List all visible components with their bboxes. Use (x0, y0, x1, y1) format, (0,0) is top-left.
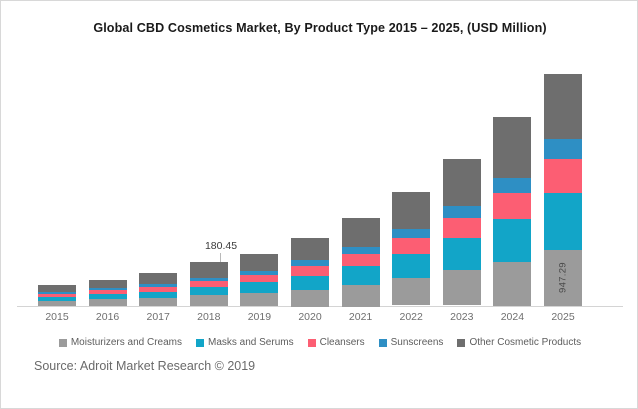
legend-swatch-icon (379, 339, 387, 347)
bar-segment[interactable] (544, 159, 582, 193)
legend-swatch-icon (457, 339, 465, 347)
legend-swatch-icon (59, 339, 67, 347)
legend-label: Moisturizers and Creams (71, 337, 182, 348)
legend-item[interactable]: Masks and Serums (196, 337, 294, 348)
bar-segment[interactable] (342, 254, 380, 266)
legend-swatch-icon (196, 339, 204, 347)
x-axis-label: 2025 (533, 311, 593, 323)
bar-stack[interactable] (190, 262, 228, 306)
legend-item[interactable]: Sunscreens (379, 337, 444, 348)
legend-label: Other Cosmetic Products (469, 337, 581, 348)
bar-segment[interactable] (544, 139, 582, 159)
bar-stack[interactable] (291, 238, 329, 306)
bar-stack[interactable] (89, 280, 127, 306)
bar-segment[interactable] (493, 262, 531, 306)
bar-segment[interactable] (443, 238, 481, 270)
legend-label: Cleansers (320, 337, 365, 348)
bar-segment[interactable] (544, 74, 582, 139)
bar-stack[interactable] (240, 254, 278, 306)
bar-segment[interactable] (342, 247, 380, 254)
bar-segment[interactable] (493, 117, 531, 178)
bar-segment[interactable] (139, 298, 177, 306)
bar-segment[interactable] (240, 282, 278, 293)
bar-segment[interactable] (342, 285, 380, 307)
bar-segment[interactable] (38, 301, 76, 306)
chart-container: Global CBD Cosmetics Market, By Product … (0, 0, 638, 409)
bar-segment[interactable]: 947.29 (544, 250, 582, 306)
bar-stack[interactable]: 947.29 (544, 74, 582, 306)
bar-segment[interactable] (443, 270, 481, 305)
bar-segment[interactable] (392, 229, 430, 238)
bar-segment[interactable] (493, 193, 531, 219)
bar-segment[interactable] (291, 266, 329, 276)
bar-segment[interactable] (89, 299, 127, 306)
bar-segment[interactable] (493, 178, 531, 193)
bar-segment[interactable] (291, 290, 329, 307)
chart-legend: Moisturizers and CreamsMasks and SerumsC… (1, 337, 638, 348)
bar-segment[interactable] (38, 285, 76, 292)
bar-stack[interactable] (392, 192, 430, 306)
bar-segment[interactable] (89, 280, 127, 288)
bar-segment[interactable] (443, 218, 481, 238)
legend-item[interactable]: Other Cosmetic Products (457, 337, 581, 348)
bar-segment[interactable] (190, 295, 228, 306)
legend-label: Sunscreens (391, 337, 444, 348)
source-note: Source: Adroit Market Research © 2019 (34, 359, 255, 373)
bar-segment[interactable] (240, 275, 278, 282)
bar-segment[interactable] (392, 192, 430, 229)
data-label-2018: 180.45 (185, 240, 257, 252)
bar-stack[interactable] (38, 285, 76, 306)
bar-segment[interactable] (240, 254, 278, 271)
bar-segment[interactable] (240, 293, 278, 306)
chart-title: Global CBD Cosmetics Market, By Product … (1, 21, 638, 35)
bar-segment[interactable] (443, 159, 481, 206)
bar-segment[interactable] (342, 218, 380, 247)
bar-stack[interactable] (342, 218, 380, 306)
bar-segment[interactable] (291, 276, 329, 290)
bar-segment[interactable] (392, 278, 430, 305)
bar-segment[interactable] (493, 219, 531, 262)
bar-segment[interactable] (342, 266, 380, 285)
bar-segment[interactable] (291, 238, 329, 260)
data-label-2025: 947.29 (544, 250, 582, 306)
legend-item[interactable]: Cleansers (308, 337, 365, 348)
legend-swatch-icon (308, 339, 316, 347)
bar-segment[interactable] (139, 273, 177, 284)
bar-stack[interactable] (493, 117, 531, 306)
bar-stack[interactable] (443, 159, 481, 306)
bar-segment[interactable] (443, 206, 481, 218)
legend-item[interactable]: Moisturizers and Creams (59, 337, 182, 348)
bar-stack[interactable] (139, 273, 177, 306)
bar-segment[interactable] (190, 287, 228, 295)
bar-segment[interactable] (392, 238, 430, 254)
legend-label: Masks and Serums (208, 337, 294, 348)
bar-segment[interactable] (544, 193, 582, 250)
bar-segment[interactable] (190, 262, 228, 278)
bar-segment[interactable] (392, 254, 430, 278)
